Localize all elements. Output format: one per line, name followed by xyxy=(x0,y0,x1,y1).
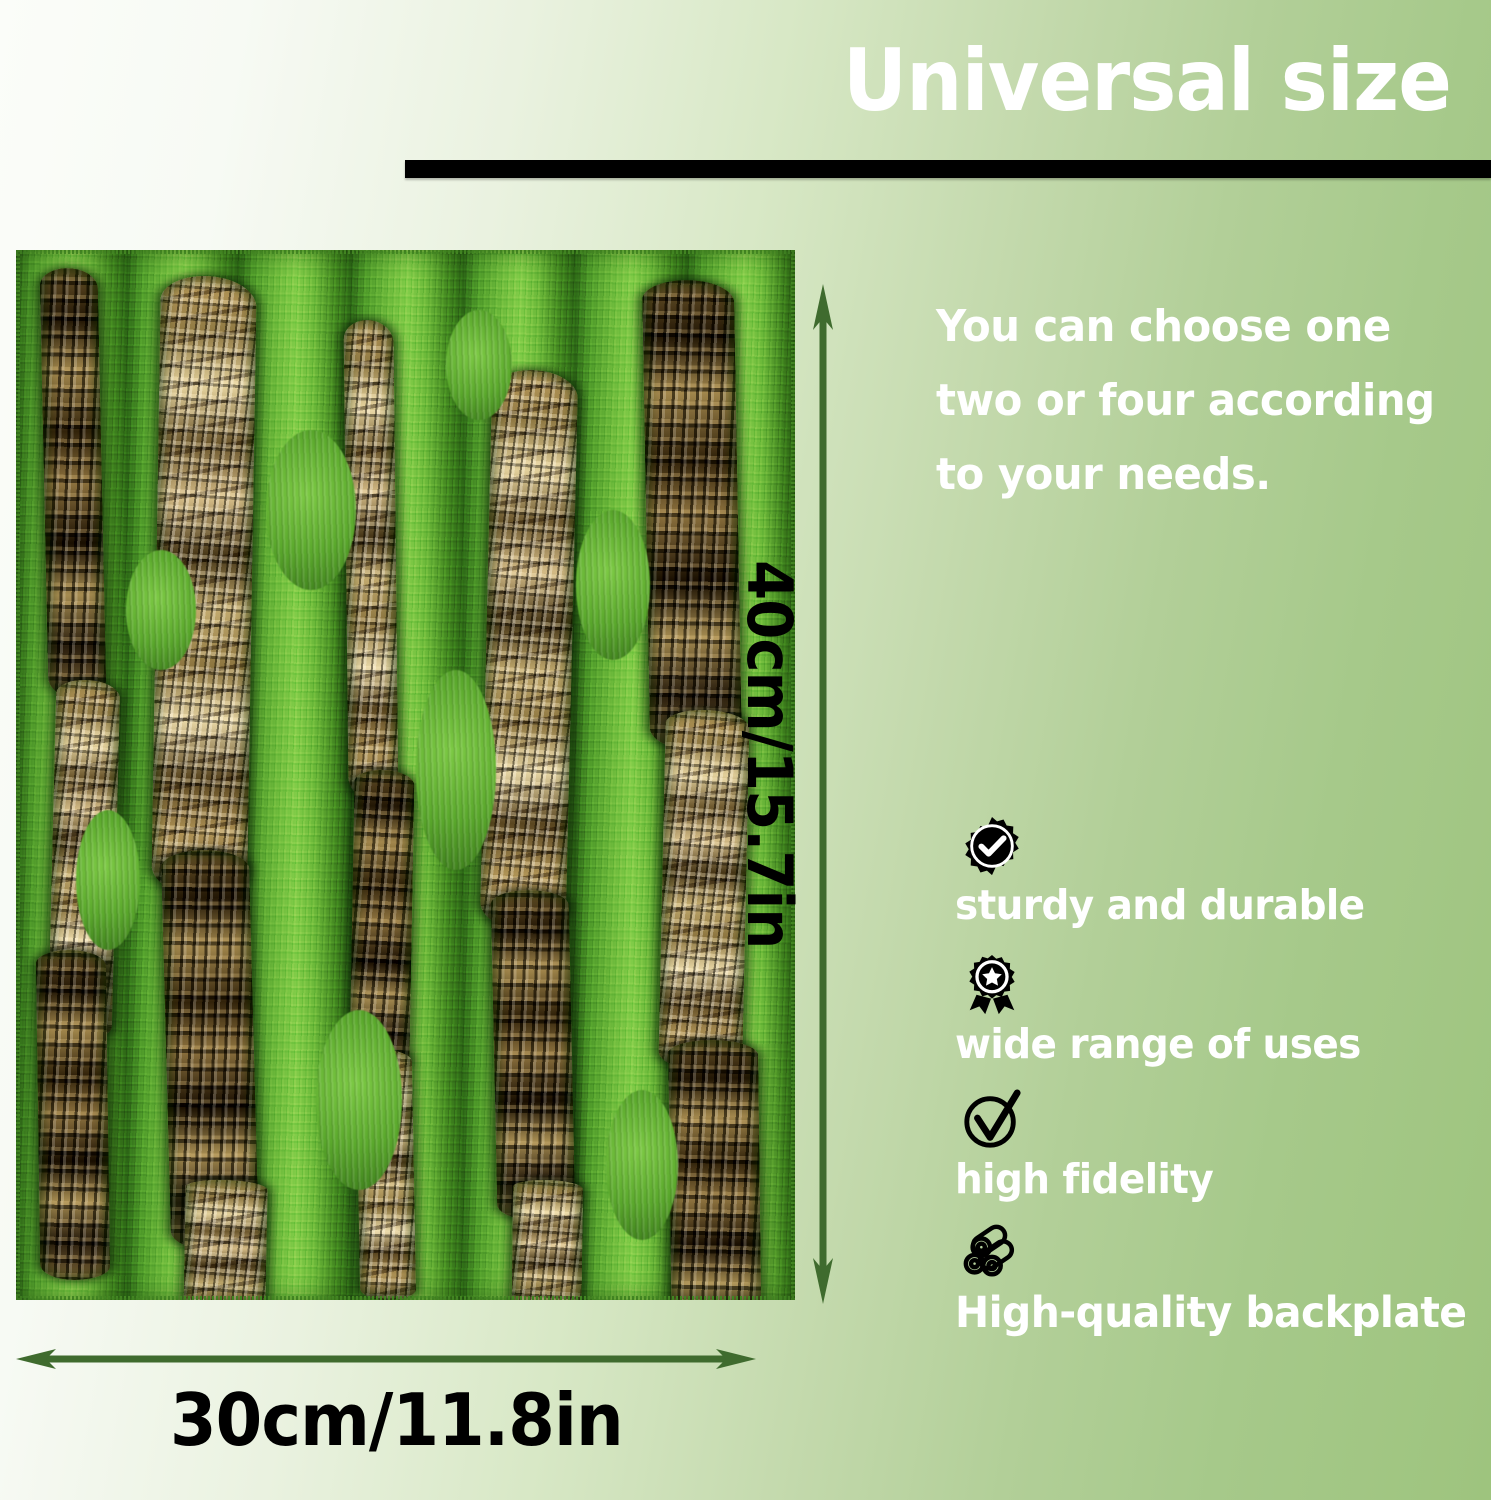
width-dimension-label: 30cm/11.8in xyxy=(170,1378,623,1462)
bark-strip xyxy=(480,369,579,931)
bark-strip xyxy=(511,1180,583,1300)
feature-label-wide-range: wide range of uses xyxy=(955,1022,1449,1067)
title-divider-rule xyxy=(405,160,1491,178)
feature-item-backplate: High-quality backplate xyxy=(955,1222,1475,1337)
intro-line-1: You can choose one xyxy=(936,290,1449,364)
feature-label-sturdy: sturdy and durable xyxy=(955,883,1449,928)
moss-tuft xyxy=(126,550,196,670)
feature-item-wide-range: wide range of uses xyxy=(955,954,1475,1067)
moss-tuft xyxy=(576,510,650,660)
bark-strip xyxy=(40,267,107,698)
intro-line-2: two or four according xyxy=(936,364,1449,438)
product-infographic: Universal size You can choose one two or… xyxy=(0,0,1491,1500)
bark-strip xyxy=(668,1039,762,1300)
bark-strip xyxy=(182,1179,268,1300)
moss-turf-texture xyxy=(16,250,795,1300)
bark-strip xyxy=(343,320,398,800)
moss-tuft xyxy=(446,310,512,420)
moss-tuft xyxy=(316,1010,402,1190)
bark-strip xyxy=(642,279,742,751)
moss-tuft xyxy=(606,1090,678,1240)
bark-strip xyxy=(491,889,576,1221)
verified-badge-icon xyxy=(961,815,1023,877)
height-dimension-arrow xyxy=(800,284,846,1304)
moss-tuft xyxy=(266,430,356,590)
feature-item-sturdy: sturdy and durable xyxy=(955,815,1475,928)
panel-fringe-left xyxy=(16,250,20,1300)
intro-paragraph: You can choose one two or four according… xyxy=(936,290,1449,512)
feature-label-high-fidelity: high fidelity xyxy=(955,1157,1449,1202)
bark-strip xyxy=(36,950,111,1281)
page-title: Universal size xyxy=(623,36,1451,126)
feature-label-backplate: High-quality backplate xyxy=(955,1290,1449,1337)
width-dimension-arrow xyxy=(16,1338,756,1382)
moss-tuft xyxy=(416,670,496,870)
check-circle-icon xyxy=(961,1089,1023,1151)
moss-tuft xyxy=(76,810,140,950)
award-rosette-icon xyxy=(961,954,1023,1016)
height-dimension-label: 40cm/15.7in xyxy=(733,560,806,948)
feature-item-high-fidelity: high fidelity xyxy=(955,1089,1475,1202)
panel-fringe-top xyxy=(16,250,795,254)
stacked-logs-icon xyxy=(961,1222,1023,1284)
feature-list: sturdy and durable wide range of uses xyxy=(955,815,1475,1356)
product-photo-moss-panel xyxy=(16,250,795,1300)
intro-line-3: to your needs. xyxy=(936,438,1449,512)
